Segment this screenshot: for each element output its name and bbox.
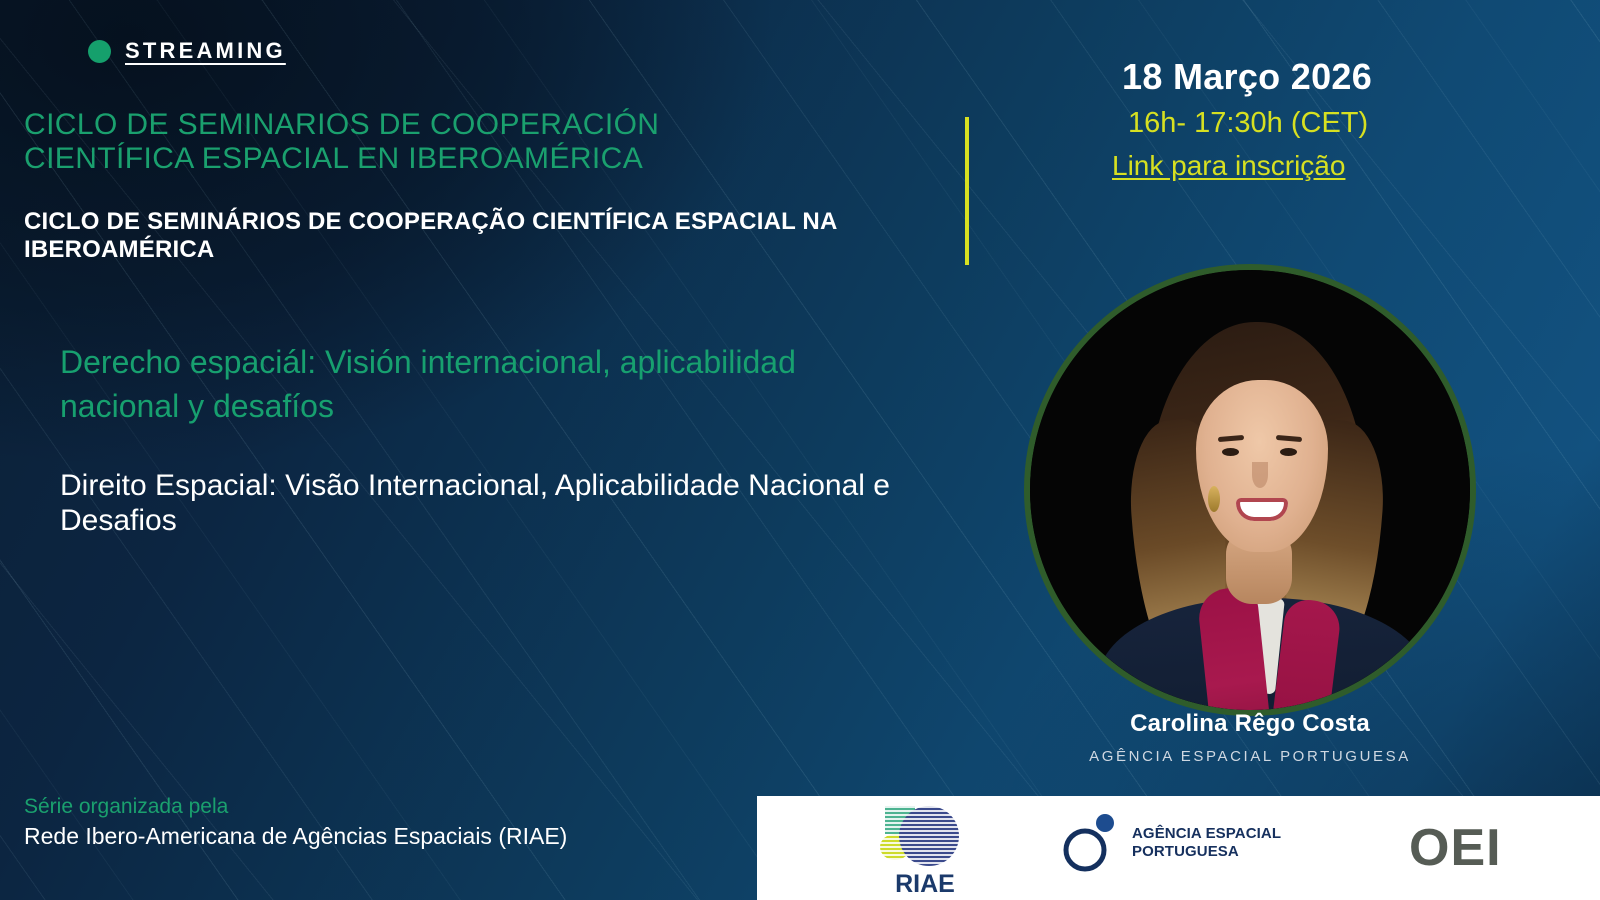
aep-logo-line2: PORTUGUESA	[1132, 843, 1281, 861]
sponsor-logo-bar: RIAE AGÊNCIA ESPACIAL PORTUGUESA OEI	[757, 796, 1600, 900]
live-dot-icon	[88, 40, 111, 63]
riae-logo: RIAE	[867, 802, 983, 898]
portrait-backdrop	[1030, 270, 1470, 710]
aep-logo-text: AGÊNCIA ESPACIAL PORTUGUESA	[1132, 825, 1281, 862]
event-poster: STREAMING CICLO DE SEMINARIOS DE COOPERA…	[0, 0, 1600, 900]
event-date: 18 Março 2026	[1000, 56, 1600, 98]
organizer-label: Série organizada pela	[24, 794, 724, 820]
streaming-label: STREAMING	[125, 38, 286, 64]
event-time: 16h- 17:30h (CET)	[1000, 107, 1600, 140]
organizer-name: Rede Ibero-Americana de Agências Espacia…	[24, 822, 724, 852]
portrait-eye-right	[1280, 448, 1297, 456]
speaker-organization: AGÊNCIA ESPACIAL PORTUGUESA	[1020, 746, 1480, 769]
registration-link-label[interactable]: Link para inscrição	[1112, 150, 1345, 181]
series-title-spanish: CICLO DE SEMINARIOS DE COOPERACIÓN CIENT…	[24, 108, 824, 175]
aep-logo-line1: AGÊNCIA ESPACIAL	[1132, 825, 1281, 843]
oei-logo: OEI	[1409, 818, 1502, 878]
portrait-smile	[1236, 498, 1288, 521]
riae-logo-text: RIAE	[895, 870, 955, 898]
talk-title-spanish: Derecho espaciál: Visión internacional, …	[60, 340, 900, 428]
vertical-divider	[965, 117, 969, 265]
organizer-block: Série organizada pela Rede Ibero-America…	[24, 794, 724, 852]
event-details: 18 Março 2026 16h- 17:30h (CET) Link par…	[1000, 56, 1600, 182]
speaker-name: Carolina Rêgo Costa	[1000, 710, 1500, 738]
series-title-portuguese: CICLO DE SEMINÁRIOS DE COOPERAÇÃO CIENTÍ…	[24, 208, 844, 265]
aep-logo: AGÊNCIA ESPACIAL PORTUGUESA	[1062, 812, 1281, 874]
portrait-earring	[1208, 486, 1220, 512]
talk-title-portuguese: Direito Espacial: Visão Internacional, A…	[60, 468, 930, 539]
speaker-photo	[1024, 264, 1476, 716]
streaming-badge: STREAMING	[88, 38, 286, 64]
portrait-eye-left	[1222, 448, 1239, 456]
portrait-nose	[1252, 462, 1268, 488]
aep-logo-mark	[1062, 812, 1118, 874]
registration-link[interactable]: Link para inscrição	[1000, 150, 1600, 182]
